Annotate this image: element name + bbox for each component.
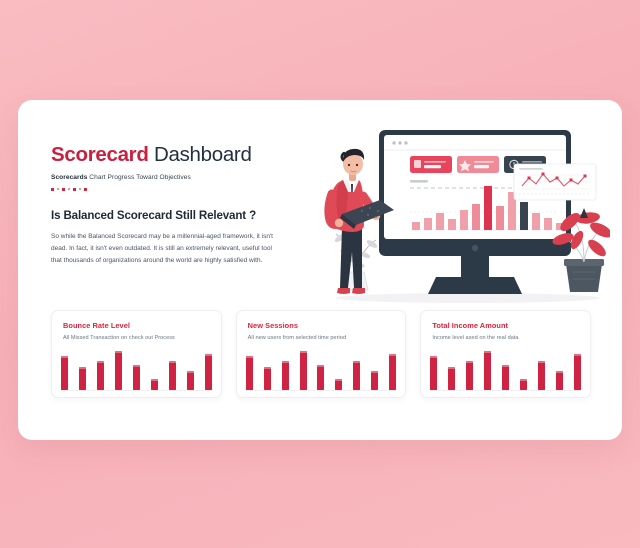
dotted-divider xyxy=(51,188,309,191)
chart-bar xyxy=(282,361,289,390)
metric-cards-row: Bounce Rate Level All Missed Transaction… xyxy=(51,310,591,398)
chart-bar xyxy=(300,351,307,390)
section-paragraph: So while the Balanced Scorecard may be a… xyxy=(51,231,283,268)
chart-bar xyxy=(205,354,212,390)
divider-dot xyxy=(73,188,76,191)
metric-card-subtitle: Income level ased on the real data xyxy=(432,335,579,341)
divider-dot xyxy=(68,188,70,190)
metric-card-subtitle: All Missed Transaction on check out Proc… xyxy=(63,335,210,341)
metric-card-subtitle: All new users from selected time period xyxy=(248,335,395,341)
monitor-kpi-card-2 xyxy=(457,156,499,173)
slide-card: Scorecard Dashboard Scorecards Chart Pro… xyxy=(18,100,622,440)
chart-bar xyxy=(574,354,581,390)
chart-bar xyxy=(79,367,86,390)
chart-bar xyxy=(389,354,396,390)
chart-bar xyxy=(169,361,176,390)
metric-card-new-sessions[interactable]: New Sessions All new users from selected… xyxy=(236,310,407,398)
chart-bar xyxy=(556,371,563,390)
section-headline: Is Balanced Scorecard Still Relevant ? xyxy=(51,209,309,222)
divider-dot xyxy=(51,188,54,191)
chart-bar xyxy=(317,365,324,390)
slide-page: Scorecard Dashboard Scorecards Chart Pro… xyxy=(0,0,640,548)
chart-baseline xyxy=(430,390,581,391)
business-analytics-illustration xyxy=(318,122,610,312)
monitor-kpi-card-1 xyxy=(410,156,452,173)
divider-dot xyxy=(79,188,81,190)
chart-bar xyxy=(151,379,158,390)
header-text-column: Scorecard Dashboard Scorecards Chart Pro… xyxy=(51,144,309,268)
chart-bar xyxy=(502,365,509,390)
metric-card-title: Total Income Amount xyxy=(432,321,579,330)
page-title: Scorecard Dashboard xyxy=(51,144,309,167)
divider-dot xyxy=(62,188,65,191)
chart-bar xyxy=(466,361,473,390)
metric-card-bar-chart xyxy=(246,348,397,390)
chart-bar xyxy=(448,367,455,390)
chart-bar xyxy=(115,351,122,390)
page-title-rest: Dashboard xyxy=(149,143,252,166)
chart-bar xyxy=(430,356,437,390)
chart-bar xyxy=(61,356,68,390)
page-title-accent: Scorecard xyxy=(51,143,149,166)
divider-dot xyxy=(84,188,87,191)
chart-bar xyxy=(484,351,491,390)
chart-bar xyxy=(97,361,104,390)
divider-dot xyxy=(57,188,59,190)
chart-bar xyxy=(133,365,140,390)
chart-bar xyxy=(335,379,342,390)
chart-baseline xyxy=(61,390,212,391)
chart-bar xyxy=(371,371,378,390)
page-subtitle-rest: Chart Progress Toward Objectives xyxy=(87,174,190,181)
metric-card-bar-chart xyxy=(430,348,581,390)
metric-card-title: New Sessions xyxy=(248,321,395,330)
chart-bar xyxy=(353,361,360,390)
metric-card-title: Bounce Rate Level xyxy=(63,321,210,330)
line-chart-panel xyxy=(514,164,596,200)
metric-card-bounce-rate[interactable]: Bounce Rate Level All Missed Transaction… xyxy=(51,310,222,398)
chart-bar xyxy=(538,361,545,390)
chart-baseline xyxy=(246,390,397,391)
chart-bar xyxy=(246,356,253,390)
metric-card-bar-chart xyxy=(61,348,212,390)
page-subtitle: Scorecards Chart Progress Toward Objecti… xyxy=(51,174,309,181)
chart-bar xyxy=(264,367,271,390)
page-subtitle-bold: Scorecards xyxy=(51,174,87,181)
chart-bar xyxy=(520,379,527,390)
desktop-monitor-dashboard xyxy=(379,130,571,294)
metric-card-total-income[interactable]: Total Income Amount Income level ased on… xyxy=(420,310,591,398)
chart-bar xyxy=(187,371,194,390)
